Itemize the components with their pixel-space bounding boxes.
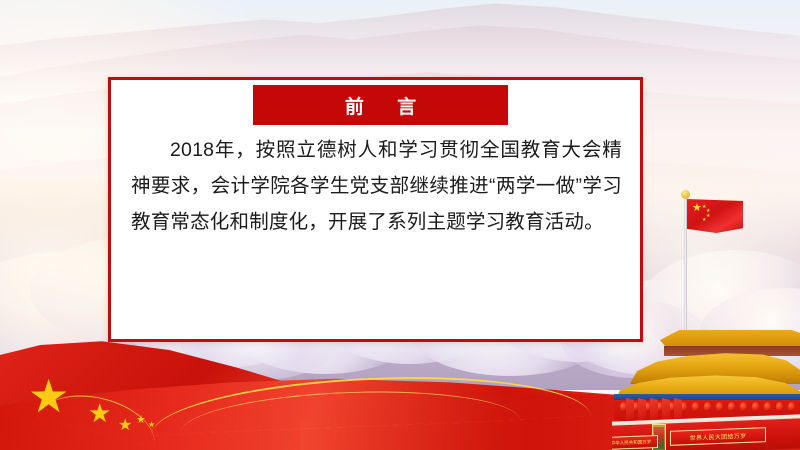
flag-star-large-icon: ★: [692, 204, 702, 213]
red-side-flag-icon: [662, 398, 670, 422]
lantern-icon: [764, 402, 771, 412]
flag-star-small-icon: ★: [706, 212, 710, 221]
lantern-icon: [776, 402, 783, 412]
slide-canvas: ★ ★ ★ ★ ★: [0, 0, 800, 450]
content-card: 前 言 2018年，按照立德树人和学习贯彻全国教育大会精神要求，会计学院各学生党…: [108, 77, 643, 342]
gate-slogan-banner-left: 中华人民共和国万岁: [612, 435, 658, 450]
lantern-icon: [752, 402, 759, 412]
gold-star-icon-5: ★: [148, 421, 155, 429]
flag-star-small-icon: ★: [702, 216, 706, 225]
gold-star-icon-3: ★: [118, 418, 132, 434]
lantern-icon: [740, 402, 747, 412]
page-title: 前 言: [331, 92, 430, 119]
red-side-flag-icon: [650, 398, 658, 422]
flagpole-finial: [681, 190, 690, 199]
gold-star-icon-1: ★: [28, 373, 69, 419]
gold-star-icon-2: ★: [88, 400, 111, 426]
section-title-banner: 前 言: [253, 85, 508, 125]
lantern-icon: [704, 402, 711, 412]
gold-star-icon-4: ★: [136, 415, 146, 426]
lantern-icon: [788, 402, 795, 412]
red-side-flag-icon: [638, 398, 646, 422]
tiananmen-gate-illustration: 中华人民共和国万岁 世界人民大团结万岁: [612, 330, 800, 450]
lantern-icon: [728, 402, 735, 412]
lantern-icon: [716, 402, 723, 412]
red-side-flag-icon: [626, 398, 634, 422]
lantern-icon: [692, 402, 699, 412]
body-paragraph: 2018年，按照立德树人和学习贯彻全国教育大会精神要求，会计学院各学生党支部继续…: [131, 132, 622, 240]
